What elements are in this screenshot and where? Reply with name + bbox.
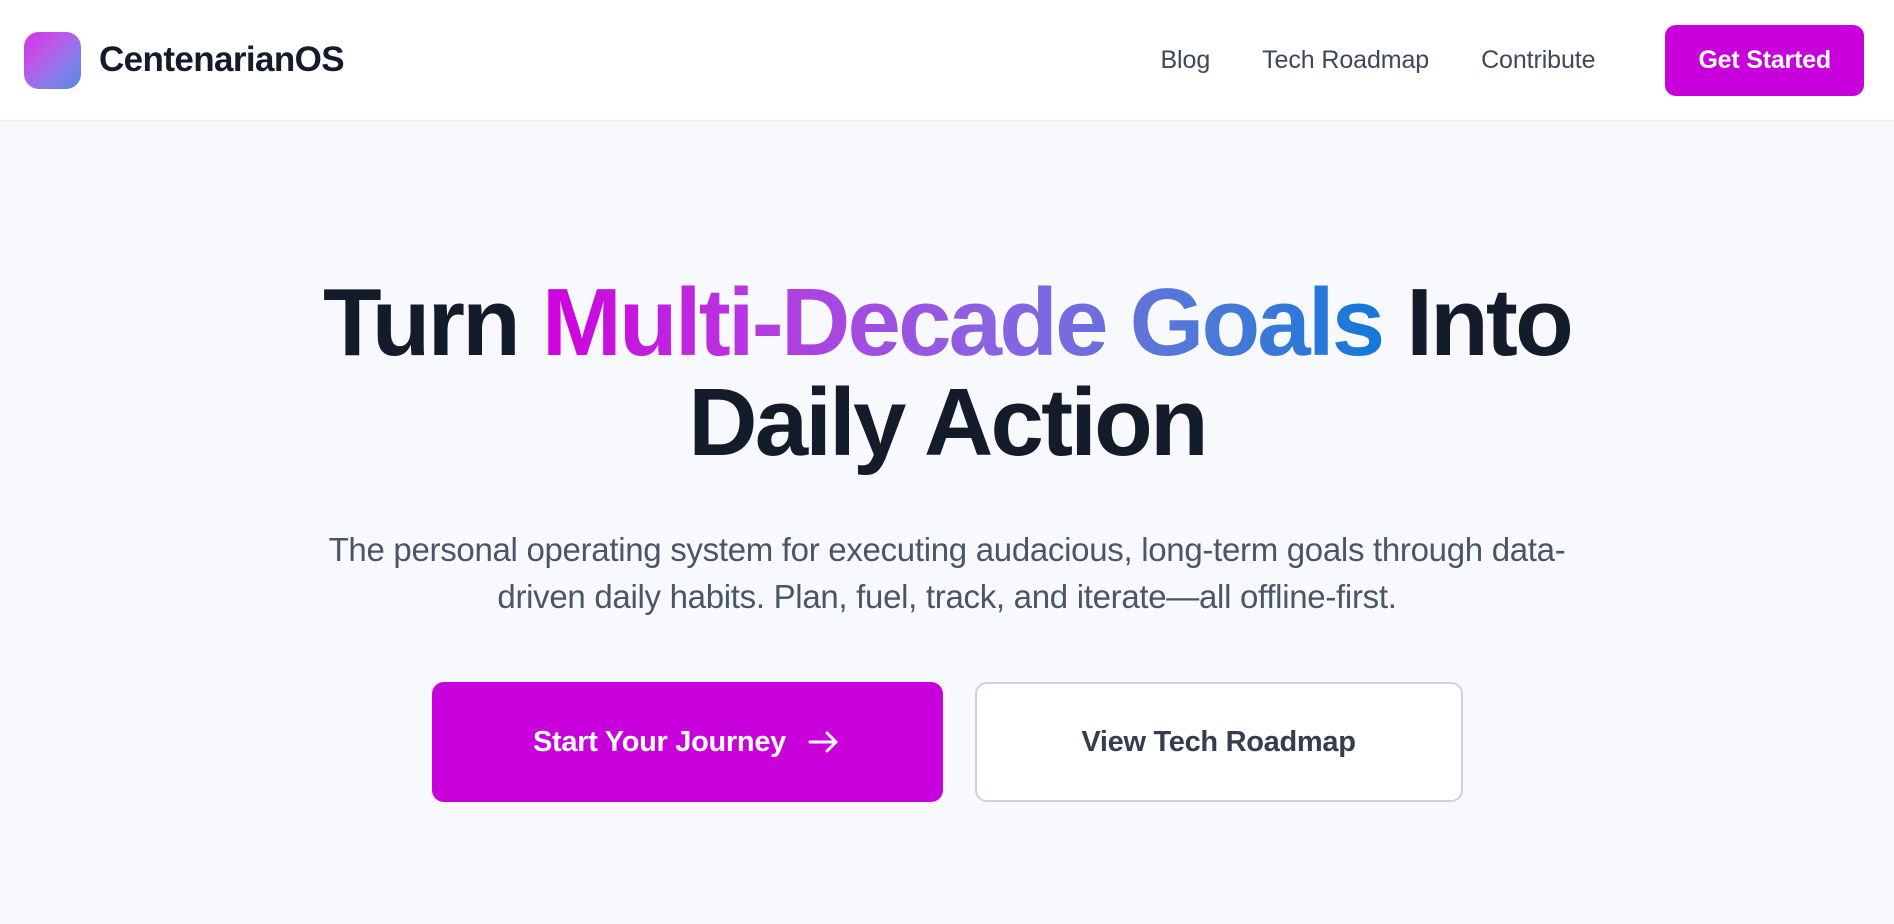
landing-page: CentenarianOS Blog Tech Roadmap Contribu… <box>0 0 1894 924</box>
page-title: Turn Multi-Decade Goals Into Daily Actio… <box>237 273 1657 473</box>
hero-subtitle: The personal operating system for execut… <box>322 527 1572 621</box>
main-navigation: Blog Tech Roadmap Contribute Get Started <box>1160 25 1864 96</box>
brand-name: CentenarianOS <box>99 40 344 80</box>
start-your-journey-label: Start Your Journey <box>533 726 786 759</box>
view-tech-roadmap-button[interactable]: View Tech Roadmap <box>975 682 1463 802</box>
start-your-journey-button[interactable]: Start Your Journey <box>432 682 943 802</box>
hero-title-prefix: Turn <box>323 269 542 376</box>
arrow-right-icon <box>807 727 841 757</box>
hero-section: Turn Multi-Decade Goals Into Daily Actio… <box>0 121 1894 924</box>
hero-title-highlight: Multi-Decade Goals <box>542 269 1382 376</box>
nav-link-tech-roadmap[interactable]: Tech Roadmap <box>1262 46 1429 75</box>
nav-link-contribute[interactable]: Contribute <box>1481 46 1595 75</box>
get-started-button[interactable]: Get Started <box>1665 25 1864 96</box>
site-header: CentenarianOS Blog Tech Roadmap Contribu… <box>0 0 1894 121</box>
nav-link-blog[interactable]: Blog <box>1160 46 1210 75</box>
app-logo-icon <box>24 32 81 89</box>
brand[interactable]: CentenarianOS <box>24 32 344 89</box>
hero-actions: Start Your Journey View Tech Roadmap <box>432 682 1463 802</box>
